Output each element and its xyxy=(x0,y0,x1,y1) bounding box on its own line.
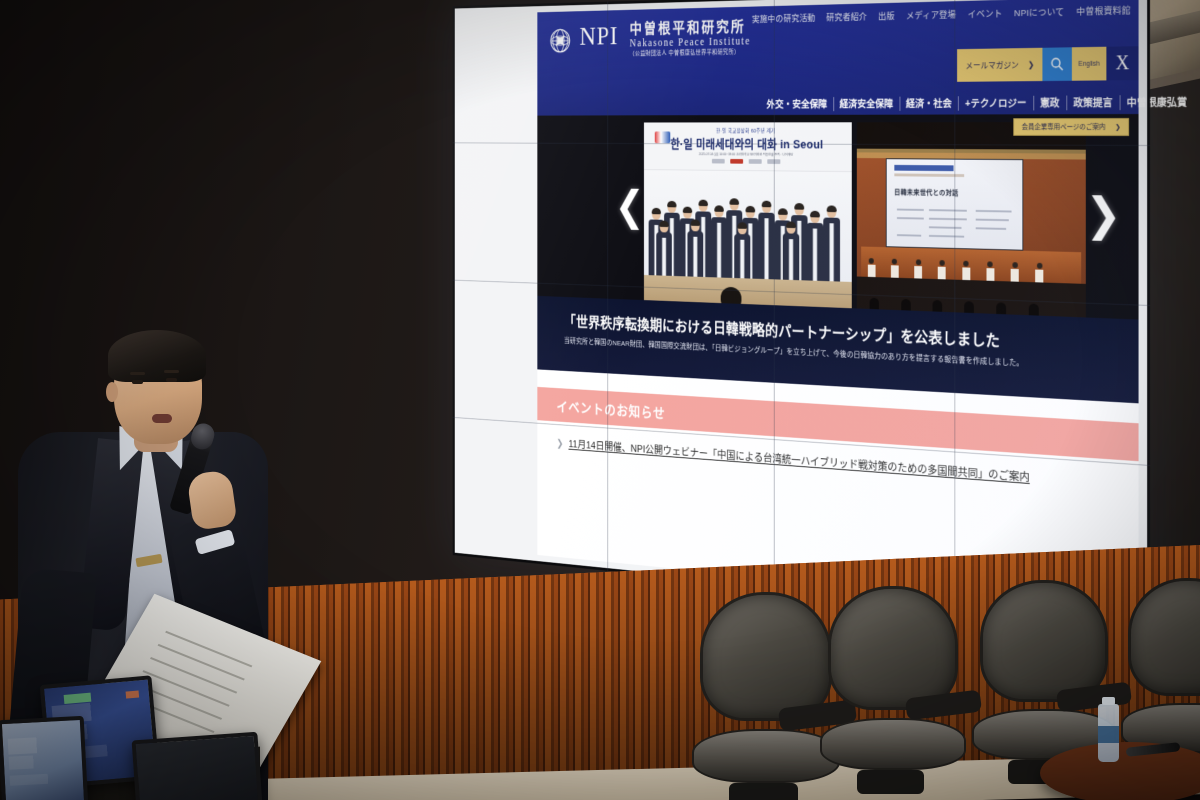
member-page-label: 会員企業専用ページのご案内 xyxy=(1022,122,1106,132)
eyebrow-right xyxy=(164,370,179,373)
control-monitor-secondary[interactable] xyxy=(0,716,88,800)
hair xyxy=(108,330,206,382)
ear xyxy=(106,382,118,402)
mouth xyxy=(152,414,172,423)
eyebrow-left xyxy=(130,372,145,375)
bottle-cap xyxy=(1102,697,1115,705)
control-monitor-tertiary[interactable] xyxy=(132,732,263,800)
office-chair[interactable] xyxy=(828,586,958,786)
eye-right xyxy=(166,378,177,382)
chevron-right-icon: ❯ xyxy=(1115,123,1121,131)
office-chair[interactable] xyxy=(700,592,832,800)
water-bottle xyxy=(1098,704,1119,762)
eye-left xyxy=(132,380,143,384)
video-wall-display: 実施中の研究活動 研究者紹介 出版 メディア登場 イベント NPIについて 中曽… xyxy=(453,0,1150,626)
screenshot-root: 実施中の研究活動 研究者紹介 出版 メディア登場 イベント NPIについて 中曽… xyxy=(0,0,1200,800)
bottle-label xyxy=(1098,726,1119,743)
office-chair[interactable] xyxy=(1128,578,1200,768)
video-wall-bezel xyxy=(453,0,1150,626)
member-page-badge[interactable]: 会員企業専用ページのご案内 ❯ xyxy=(1014,118,1129,136)
